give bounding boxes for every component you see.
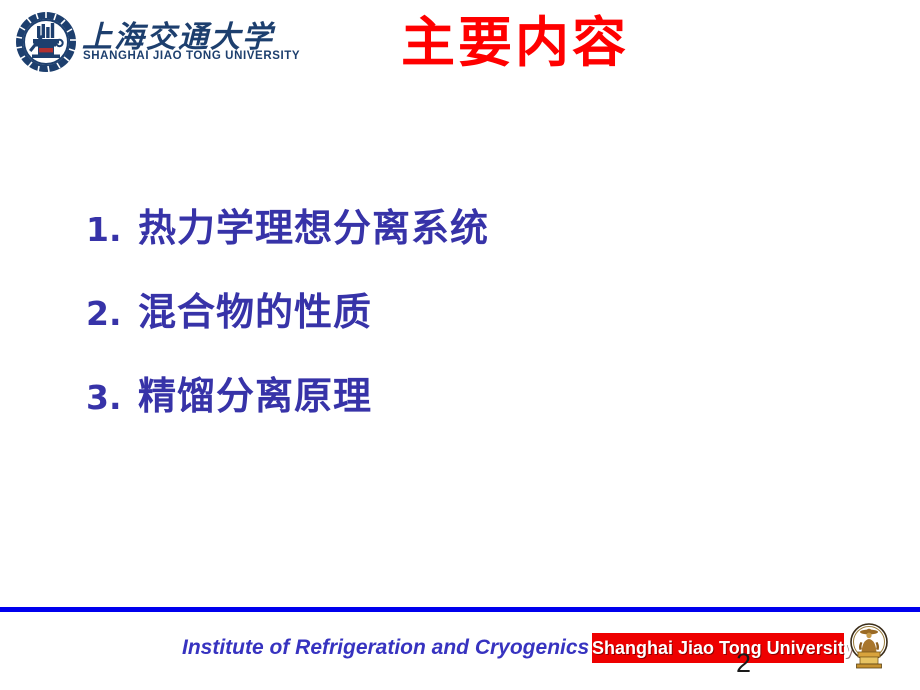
agenda-list: 1. 热力学理想分离系统 2. 混合物的性质 3. 精馏分离原理 xyxy=(86,206,826,458)
list-item: 3. 精馏分离原理 xyxy=(86,374,826,458)
page-number: 2 xyxy=(736,648,751,678)
list-item-label: 混合物的性质 xyxy=(138,290,372,334)
list-item: 1. 热力学理想分离系统 xyxy=(86,206,826,290)
institute-name-label: Institute of Refrigeration and Cryogenic… xyxy=(182,636,589,660)
page-title: 主要内容 xyxy=(0,12,920,74)
list-item-number: 1. xyxy=(86,210,138,250)
list-item-label: 精馏分离原理 xyxy=(138,374,372,418)
slide-footer: Institute of Refrigeration and Cryogenic… xyxy=(0,612,920,690)
list-item-label: 热力学理想分离系统 xyxy=(138,206,489,250)
university-banner-label: Shanghai Jiao Tong University xyxy=(592,633,844,663)
university-banner: Shanghai Jiao Tong University xyxy=(592,633,844,663)
list-item-number: 2. xyxy=(86,294,138,334)
list-item-number: 3. xyxy=(86,378,138,418)
list-item: 2. 混合物的性质 xyxy=(86,290,826,374)
sjtu-statue-medallion-icon xyxy=(849,618,889,674)
